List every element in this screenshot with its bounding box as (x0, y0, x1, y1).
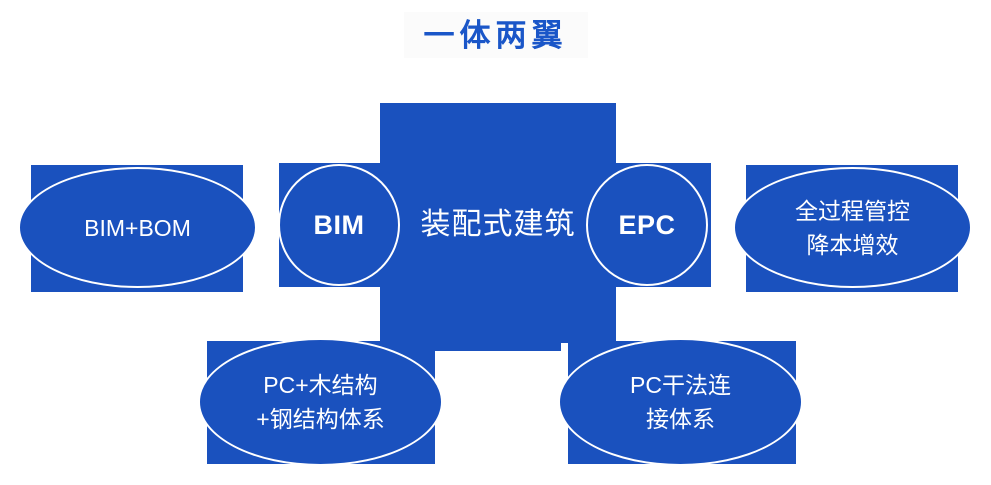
satellite-bottom-left-line-2: +钢结构体系 (256, 406, 384, 432)
diagram-canvas: 一体两翼 装配式建筑 BIM EPC BIM+BOM 全过程管控 降本增效 PC… (0, 0, 991, 485)
satellite-bottom-left-text: PC+木结构 +钢结构体系 (250, 368, 390, 436)
wing-node-epc-label: EPC (618, 210, 675, 241)
satellite-right-text: 全过程管控 降本增效 (789, 194, 916, 262)
satellite-bottom-right-line-2: 接体系 (646, 406, 715, 432)
satellite-right-line-2: 降本增效 (807, 232, 899, 258)
center-node-label: 装配式建筑 (400, 202, 596, 248)
center-cross-bottom-notch (429, 341, 561, 351)
satellite-bottom-right-line-1: PC干法连 (630, 372, 731, 398)
satellite-left-line-1: BIM+BOM (84, 215, 191, 241)
satellite-bottom-left-line-1: PC+木结构 (263, 372, 377, 398)
wing-node-bim-label: BIM (314, 210, 365, 241)
page-title: 一体两翼 (0, 16, 991, 56)
satellite-right-line-1: 全过程管控 (795, 198, 910, 224)
satellite-node-bottom-left[interactable]: PC+木结构 +钢结构体系 (198, 338, 443, 466)
wing-node-bim[interactable]: BIM (278, 164, 400, 286)
satellite-left-text: BIM+BOM (78, 211, 197, 245)
satellite-node-left[interactable]: BIM+BOM (18, 167, 257, 288)
satellite-bottom-right-text: PC干法连 接体系 (624, 368, 737, 436)
satellite-node-right[interactable]: 全过程管控 降本增效 (733, 167, 972, 288)
wing-node-epc[interactable]: EPC (586, 164, 708, 286)
center-cross-bottom-arm (380, 285, 616, 343)
center-cross-top-arm (380, 103, 616, 165)
satellite-node-bottom-right[interactable]: PC干法连 接体系 (558, 338, 803, 466)
